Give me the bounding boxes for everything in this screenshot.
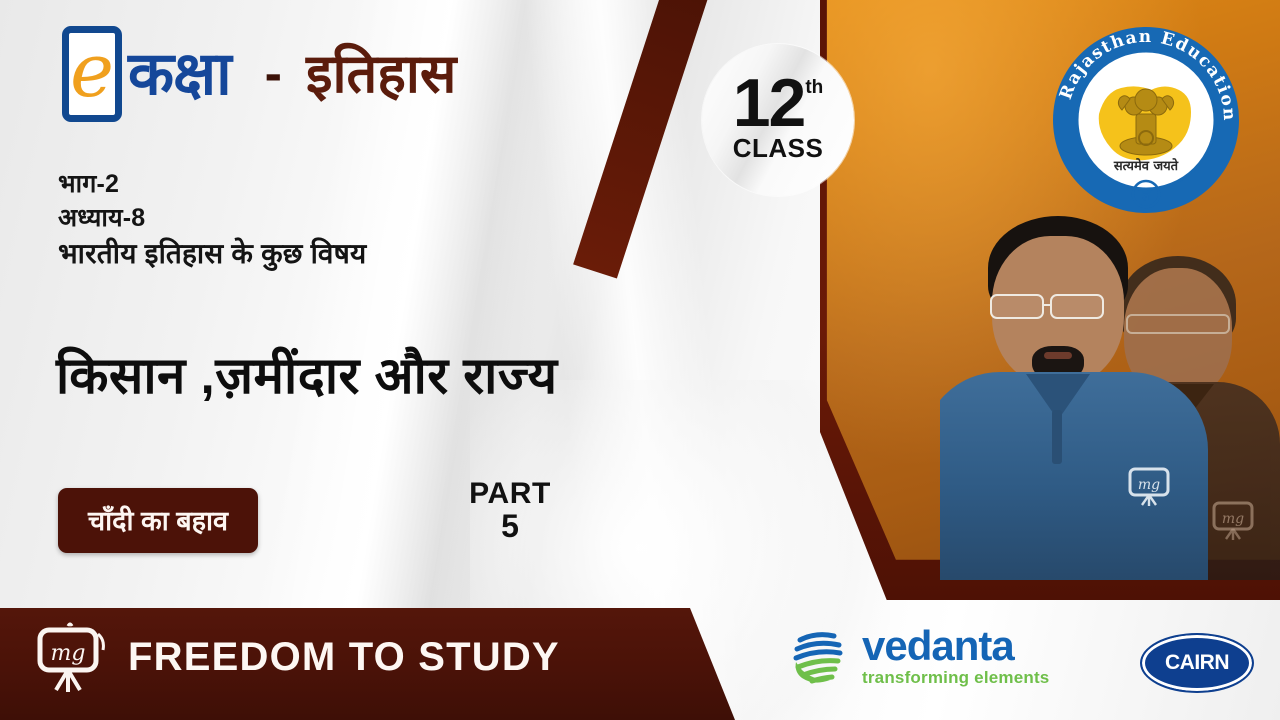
footer-content: mg FREEDOM TO STUDY: [34, 622, 560, 692]
instructor-photos: mg mg: [940, 196, 1280, 580]
vedanta-logo: vedanta transforming elements: [790, 624, 1049, 686]
instructor-front-mouth: [1044, 352, 1072, 359]
rajasthan-education-department-emblem: Rajasthan Education Department सत्यमेव ज…: [1044, 18, 1248, 222]
svg-text:mg: mg: [51, 641, 86, 666]
class-badge: 12 th CLASS: [702, 44, 854, 196]
vedanta-globe-icon: [790, 624, 852, 686]
meta-book: भारतीय इतिहास के कुछ विषय: [58, 235, 366, 273]
phone-icon: e: [62, 26, 122, 122]
mg-polo-logo-back: mg: [1210, 500, 1256, 540]
brand-letter-e: e: [70, 45, 114, 98]
lesson-meta: भाग-2 अध्याय-8 भारतीय इतिहास के कुछ विषय: [58, 168, 366, 273]
cairn-name: CAIRN: [1165, 651, 1229, 675]
class-number-suffix: th: [805, 80, 823, 96]
meta-part: भाग-2: [58, 168, 366, 202]
brand-subject: इतिहास: [306, 47, 456, 101]
brand-logo: e कक्षा - इतिहास: [62, 26, 456, 122]
vedanta-tagline: transforming elements: [862, 669, 1049, 686]
part-block: PART 5: [430, 478, 590, 544]
instructor-front: mg: [940, 196, 1190, 580]
svg-text:ज्ञ: ज्ञ: [1142, 188, 1152, 204]
vedanta-name: vedanta: [862, 625, 1049, 667]
topic-badge: चाँदी का बहाव: [58, 488, 258, 553]
mg-board-icon: mg: [34, 622, 108, 692]
footer-tagline: FREEDOM TO STUDY: [128, 635, 560, 680]
instructor-front-glasses-left: [990, 294, 1044, 319]
meta-chapter: अध्याय-8: [58, 202, 366, 236]
vedanta-text: vedanta transforming elements: [862, 625, 1049, 686]
class-number-row: 12 th: [733, 76, 824, 132]
instructor-front-placket: [1052, 410, 1062, 464]
part-label: PART: [430, 478, 590, 510]
svg-text:mg: mg: [1138, 477, 1160, 493]
svg-text:mg: mg: [1222, 511, 1244, 527]
thumbnail-canvas: mg mg 12 th CLASS: [0, 0, 1280, 720]
emblem-motto: सत्यमेव जयते: [1113, 158, 1179, 174]
instructor-front-glasses-bridge: [1044, 304, 1052, 306]
class-number: 12: [733, 76, 805, 132]
cairn-logo: CAIRN: [1140, 633, 1254, 693]
page-title: किसान ,ज़मींदार और राज्य: [56, 338, 558, 408]
brand-dash: -: [265, 48, 282, 100]
brand-name: कक्षा: [128, 44, 231, 104]
instructor-front-glasses-right: [1050, 294, 1104, 319]
class-word: CLASS: [733, 133, 824, 164]
part-number: 5: [430, 510, 590, 544]
mg-polo-logo-front: mg: [1126, 466, 1172, 506]
